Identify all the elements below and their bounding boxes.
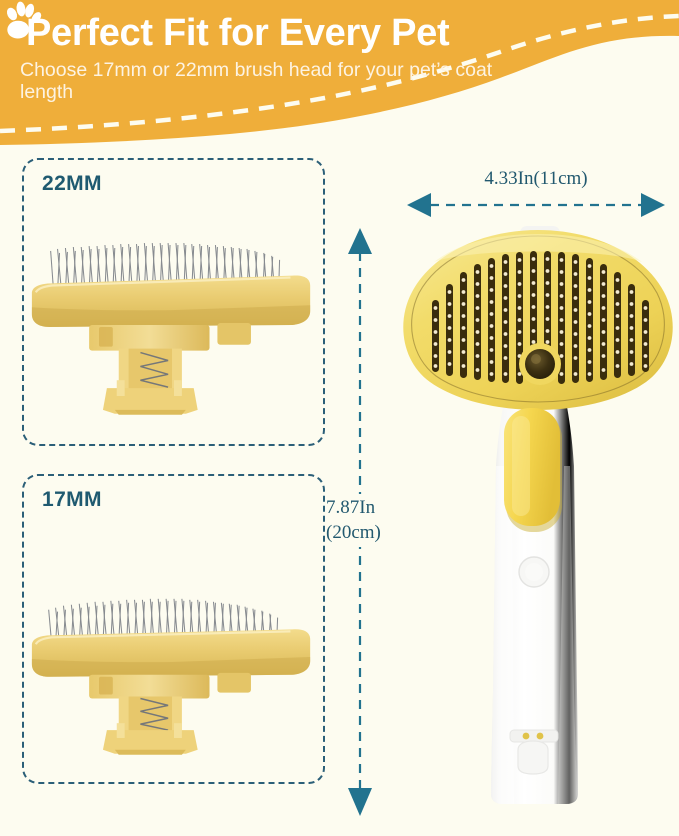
card-label-22mm: 22MM (42, 172, 102, 196)
header-banner: Perfect Fit for Every Pet Choose 17mm or… (0, 0, 679, 150)
charging-contact-left (523, 733, 530, 740)
page-subtitle: Choose 17mm or 22mm brush head for your … (20, 60, 520, 104)
arrow-up-icon (348, 228, 372, 254)
brush-head-17mm-image (24, 553, 323, 768)
brush-head-card-17mm: 17MM (22, 474, 325, 784)
arrow-left-icon (407, 193, 431, 217)
page-title: Perfect Fit for Every Pet (26, 12, 449, 55)
arrow-down-icon (348, 788, 372, 816)
brush-head-card-22mm: 22MM (22, 158, 325, 446)
brush-mechanism (89, 673, 251, 755)
card-label-17mm: 17MM (42, 488, 102, 512)
width-dimension-line (403, 190, 669, 220)
width-dimension-label: 4.33In(11cm) (408, 168, 664, 190)
brush-head-22mm-image (24, 215, 323, 430)
handle-bottom-cap (518, 741, 548, 774)
charging-contact-right (537, 733, 544, 740)
brush-mechanism (89, 323, 251, 415)
pet-grooming-brush-image (398, 222, 679, 822)
infographic-page: Perfect Fit for Every Pet Choose 17mm or… (0, 0, 679, 836)
contacts-recess (510, 730, 558, 742)
paw-print-icon (0, 0, 42, 40)
arrow-right-icon (641, 193, 665, 217)
head-center-screw[interactable] (525, 349, 555, 379)
